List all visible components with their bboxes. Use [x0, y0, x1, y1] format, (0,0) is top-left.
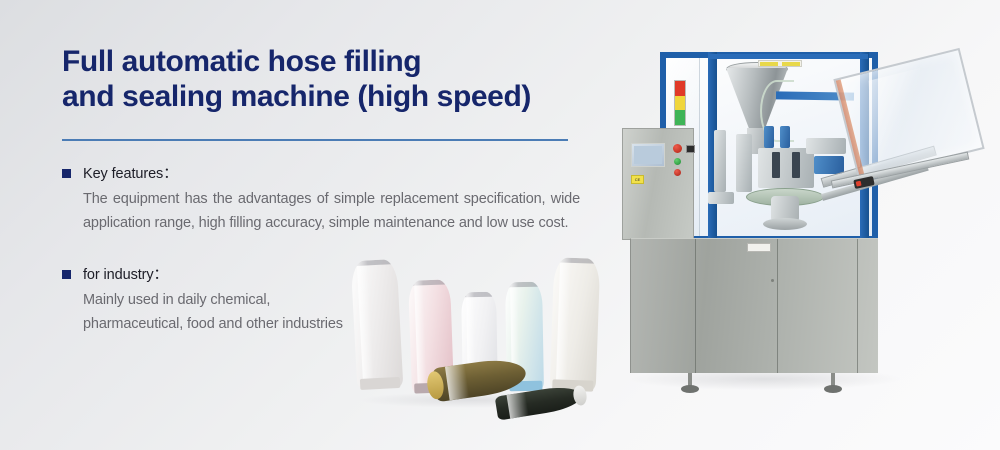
filling-nozzle-column: [736, 134, 752, 192]
door-glare: [868, 68, 922, 167]
square-bullet-icon: [62, 270, 71, 279]
headline-block: Full automatic hose filling and sealing …: [62, 44, 582, 114]
sealing-jaw: [772, 152, 780, 178]
feature-body: The equipment has the advantages of simp…: [83, 187, 580, 235]
stop-button[interactable]: [674, 169, 681, 176]
caution-label: [747, 243, 771, 252]
tube-holder: [708, 192, 734, 204]
tube-cap: [360, 377, 401, 390]
product-banner: Full automatic hose filling and sealing …: [0, 0, 1000, 450]
square-bullet-icon: [62, 169, 71, 178]
sealing-head-assembly: [758, 148, 814, 188]
drive-unit: [814, 156, 844, 174]
turret-base: [763, 218, 807, 230]
feature-label: Key features：: [83, 162, 178, 183]
control-cabinet: CE: [622, 128, 694, 240]
page-title: Full automatic hose filling and sealing …: [62, 44, 582, 114]
automatic-tube-filling-sealing-machine: CE: [608, 30, 1000, 420]
beige-tube: [550, 257, 601, 391]
ce-label: CE: [631, 175, 644, 184]
sensor-block: [764, 126, 774, 148]
frame-crossbar: [708, 54, 868, 59]
transfer-arm: [806, 138, 846, 154]
emergency-stop-button[interactable]: [673, 144, 682, 153]
leveling-foot: [831, 373, 835, 389]
warning-label-strip: [758, 60, 802, 67]
hmi-touchscreen[interactable]: [631, 143, 665, 167]
piston-rod: [714, 130, 726, 192]
stack-light-tower-icon: [674, 80, 686, 126]
white-tube: [351, 259, 404, 389]
leveling-foot: [688, 373, 692, 389]
lower-stainless-cabinet: [630, 238, 878, 373]
feature-block-key-features: Key features： The equipment has the adva…: [62, 162, 592, 235]
feature-heading-row: Key features：: [62, 162, 592, 183]
sensor-block: [780, 126, 790, 148]
sealing-jaw: [792, 152, 800, 178]
start-button[interactable]: [674, 158, 681, 165]
selector-switch[interactable]: [686, 145, 695, 153]
feature-label: for industry：: [83, 263, 168, 284]
feature-body: Mainly used in daily chemical, pharmaceu…: [83, 288, 373, 336]
title-divider: [62, 139, 568, 141]
cosmetic-tube-samples: [348, 252, 598, 420]
